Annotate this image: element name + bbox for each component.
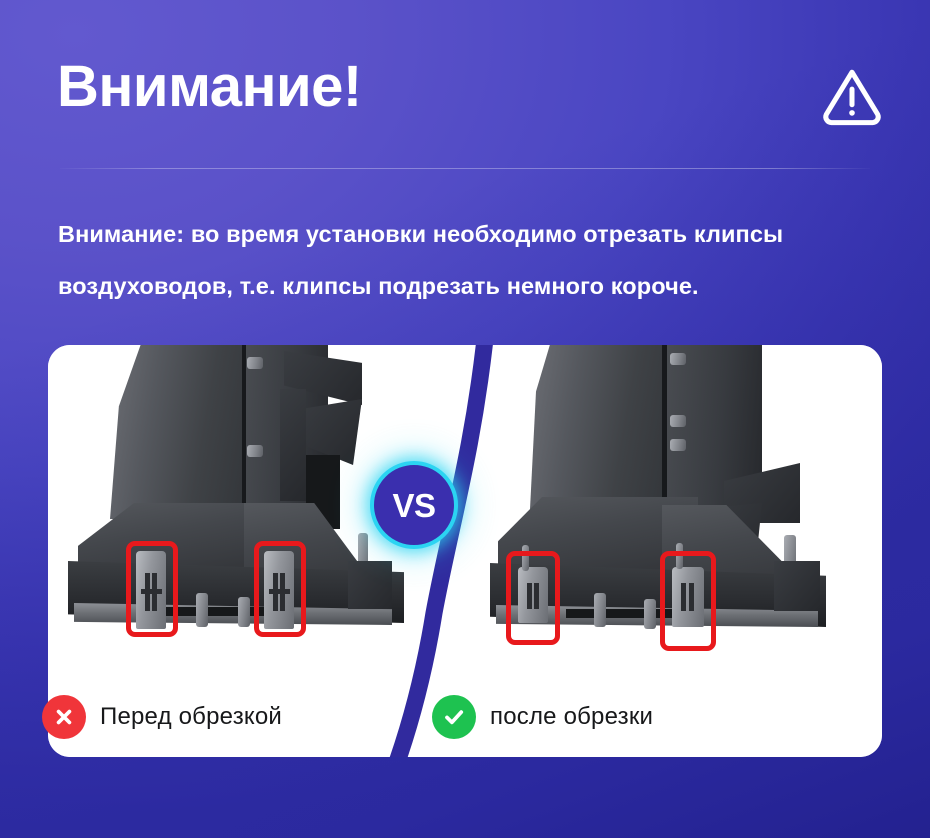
check-circle-icon bbox=[432, 695, 476, 739]
highlight-box bbox=[254, 541, 306, 637]
vs-label: VS bbox=[392, 489, 435, 522]
highlight-box bbox=[126, 541, 178, 637]
warning-triangle-icon bbox=[821, 64, 883, 126]
caption-after-cutting: после обрезки bbox=[432, 695, 653, 739]
vs-badge: VS bbox=[370, 461, 458, 549]
highlight-box bbox=[506, 551, 560, 645]
highlight-box bbox=[660, 551, 716, 651]
page-title: Внимание! bbox=[57, 58, 362, 116]
header-divider bbox=[60, 168, 870, 169]
header: Внимание! bbox=[0, 0, 930, 180]
intro-paragraph: Внимание: во время установки необходимо … bbox=[58, 208, 882, 312]
caption-before-label: Перед обрезкой bbox=[100, 703, 282, 731]
cross-circle-icon bbox=[42, 695, 86, 739]
caption-after-label: после обрезки bbox=[490, 703, 653, 731]
caption-before-cutting: Перед обрезкой bbox=[42, 695, 282, 739]
